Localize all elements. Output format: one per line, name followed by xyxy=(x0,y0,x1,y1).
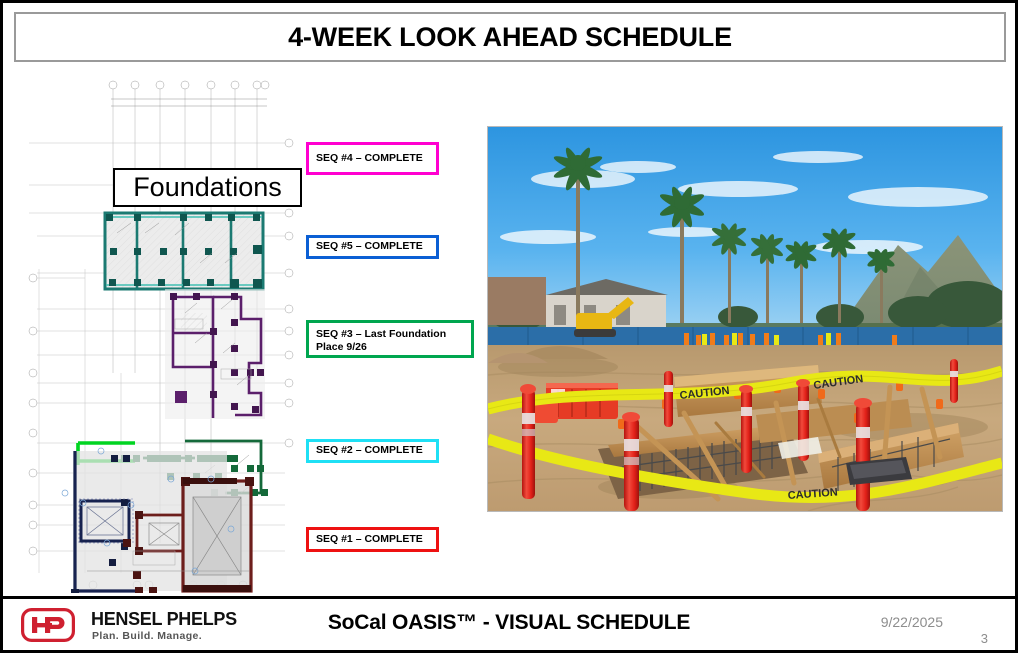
slide-canvas: 4-WEEK LOOK AHEAD SCHEDULE xyxy=(0,0,1018,653)
legend-seq-5-label: SEQ #5 – COMPLETE xyxy=(316,240,423,253)
footer-project-title: SoCal OASIS™ - VISUAL SCHEDULE xyxy=(3,611,1015,635)
foundation-floor-plan: Foundations xyxy=(25,73,297,593)
delineator-post xyxy=(950,359,958,403)
legend-seq-1[interactable]: SEQ #1 – COMPLETE xyxy=(306,527,439,552)
legend-seq-2[interactable]: SEQ #2 – COMPLETE xyxy=(306,439,439,463)
footer-page-number: 3 xyxy=(981,631,988,646)
legend-seq-1-label: SEQ #1 – COMPLETE xyxy=(316,533,423,546)
delineator-post xyxy=(622,412,640,511)
legend-seq-3-line2: Place 9/26 xyxy=(316,341,367,353)
legend-seq-3[interactable]: SEQ #3 – Last Foundation Place 9/26 xyxy=(306,320,474,358)
page-title: 4-WEEK LOOK AHEAD SCHEDULE xyxy=(288,22,732,53)
legend-seq-4-label: SEQ #4 – COMPLETE xyxy=(316,152,423,165)
delineator-post xyxy=(854,398,872,511)
legend-seq-3-label: SEQ #3 – Last Foundation Place 9/26 xyxy=(316,328,446,354)
legend-seq-3-line1: SEQ #3 – Last Foundation xyxy=(316,328,446,340)
slide-title-box: 4-WEEK LOOK AHEAD SCHEDULE xyxy=(14,12,1006,62)
delineator-post xyxy=(739,385,753,473)
delineator-post xyxy=(664,371,673,427)
legend-seq-4[interactable]: SEQ #4 – COMPLETE xyxy=(306,142,439,175)
footer-date: 9/22/2025 xyxy=(881,614,943,630)
slide-footer: HENSEL PHELPS Plan. Build. Manage. SoCal… xyxy=(3,596,1015,650)
delineator-post xyxy=(520,384,536,499)
foundations-plan-label: Foundations xyxy=(113,168,302,207)
legend-seq-5[interactable]: SEQ #5 – COMPLETE xyxy=(306,235,439,259)
legend-seq-2-label: SEQ #2 – COMPLETE xyxy=(316,444,423,457)
site-progress-photo: CAUTION CAUTION CAUTION xyxy=(487,126,1003,512)
foundations-plan-label-text: Foundations xyxy=(133,174,282,201)
